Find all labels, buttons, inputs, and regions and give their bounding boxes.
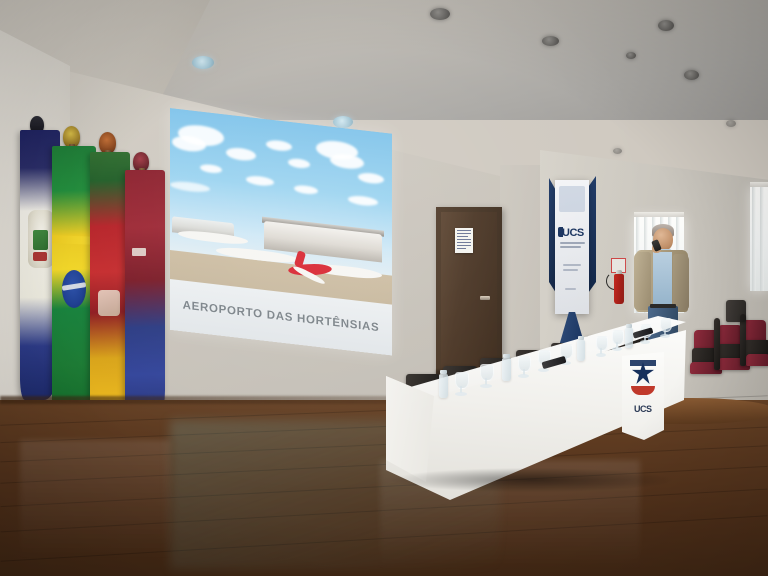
flag-municipal-crest-green [33,230,48,250]
audience-chair-post [714,318,720,370]
door-handle[interactable] [480,296,490,300]
audience-chair-far[interactable] [726,300,746,322]
ceiling-light-7 [333,116,353,128]
projection-screen: AEROPORTO DAS HORTÊNSIAS [170,108,392,356]
ceiling-light-3 [658,20,674,31]
speaker-right-arm [673,254,689,310]
fire-extinguisher [614,274,624,304]
wine-glass-8-foot [640,340,650,344]
banner-graphic-dots [559,186,585,212]
door-notice-sign [455,228,473,253]
floor-wall-junction [0,396,440,404]
wine-glass-7-foot [612,347,622,351]
ceiling-light-6 [192,56,214,69]
ceiling-light-11 [726,120,736,127]
wine-glass-2-foot [480,384,492,388]
ceiling-light-10 [613,148,622,154]
wine-glass-6-bowl[interactable] [596,336,608,351]
banner-logo-mark [558,227,563,237]
water-bottle-4[interactable] [625,328,633,348]
banner-body-line-3 [565,288,576,290]
presentation-room-photo: AEROPORTO DAS HORTÊNSIAS UCS [0,0,768,576]
slide-title-text: AEROPORTO DAS HORTÊNSIAS [183,300,380,335]
speaker-shirt [653,252,672,310]
water-bottle-1[interactable] [439,374,448,398]
water-bottle-2[interactable] [502,358,511,381]
window-blind-slat [752,187,756,291]
speaker-left-arm [634,252,651,310]
ceiling-light-5 [626,52,636,59]
floor-reflection-flags [20,440,170,560]
window-blind-slat [760,187,764,291]
banner-body-line-1 [563,264,581,266]
ucs-table-flag: UCS [622,352,664,440]
ceiling-light-2 [542,36,559,46]
wine-glass-1-bowl[interactable] [455,372,469,389]
banner-subtitle-line-2 [560,246,581,248]
wine-glass-9-bowl[interactable] [660,318,672,332]
ucs-flag-label: UCS [634,404,652,414]
water-bottle-3[interactable] [577,340,585,361]
ucs-flag-red-band [631,386,655,395]
wine-glass-3-foot [518,374,529,378]
banner-body-line-2 [563,269,578,271]
flag-municipal-crest-red [33,252,47,261]
window-right [750,187,768,291]
wine-glass-9-foot [660,334,670,338]
speaker-belt [650,304,676,308]
flag-institution-badge [132,248,146,256]
audience-chair-2[interactable] [718,325,742,346]
wine-glass-1-foot [455,392,467,396]
head-table-shadow [392,468,672,492]
wine-glass-2-bowl[interactable] [480,364,494,381]
ceiling-light-1 [430,8,450,20]
banner-ucs-logo: UCS [562,227,584,239]
wine-glass-6-foot [596,353,606,357]
ceiling-light-4 [684,70,699,80]
wine-glass-7-bowl[interactable] [612,330,624,345]
ucs-rollup-banner: UCS [555,180,589,314]
audience-chair-seat-3[interactable] [746,354,768,366]
banner-subtitle-line-1 [560,242,585,244]
ucs-flag-navy-band [630,360,656,366]
flag-rgs-crest [98,290,120,316]
flag-institution [125,170,165,432]
